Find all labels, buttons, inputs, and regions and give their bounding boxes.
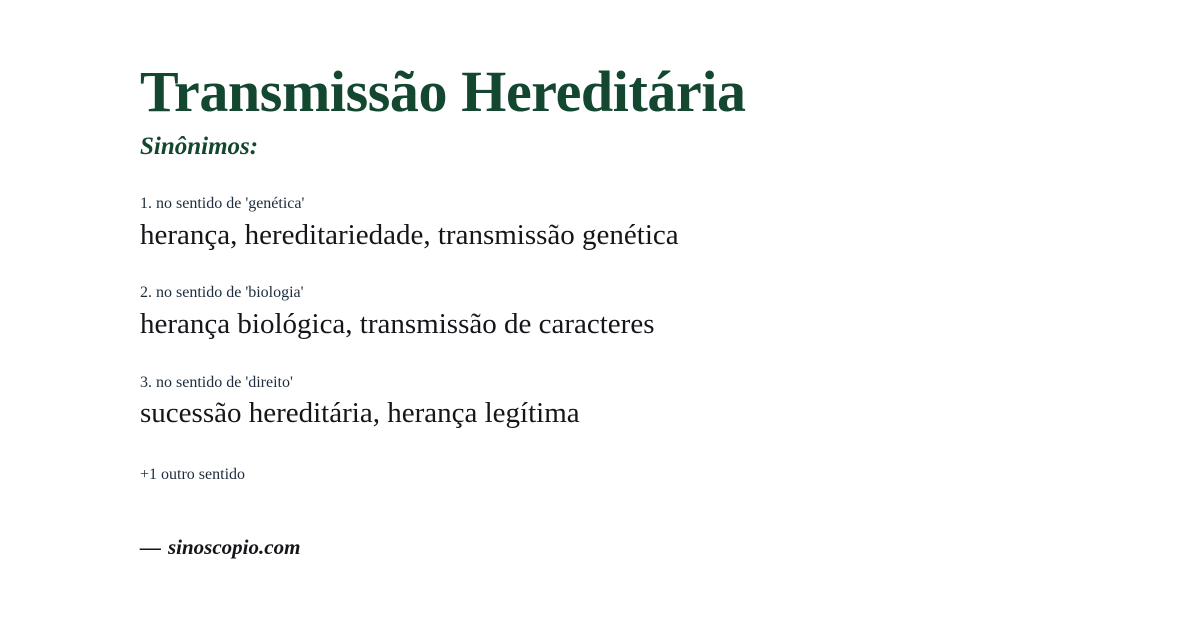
more-senses-note: +1 outro sentido	[140, 464, 245, 486]
sense-label: 1. no sentido de 'genética'	[140, 193, 1080, 215]
sense-list: 1. no sentido de 'genética' herança, her…	[140, 193, 1080, 433]
source-name: sinoscopio.com	[168, 535, 300, 559]
sense-synonyms: sucessão hereditária, herança legítima	[140, 395, 1080, 433]
sense-synonyms: herança biológica, transmissão de caract…	[140, 306, 1080, 344]
sense-synonyms: herança, hereditariedade, transmissão ge…	[140, 217, 1080, 255]
source-attribution: —sinoscopio.com	[140, 535, 300, 560]
sense-entry-1: 1. no sentido de 'genética' herança, her…	[140, 193, 1080, 254]
sense-label: 3. no sentido de 'direito'	[140, 372, 1080, 394]
sense-label: 2. no sentido de 'biologia'	[140, 282, 1080, 304]
sense-entry-2: 2. no sentido de 'biologia' herança biol…	[140, 282, 1080, 343]
em-dash-glyph: —	[140, 535, 161, 559]
section-subtitle-sinonimos: Sinônimos:	[140, 133, 258, 161]
synonym-card: Transmissão Hereditária Sinônimos: 1. no…	[0, 0, 1200, 628]
sense-entry-3: 3. no sentido de 'direito' sucessão here…	[140, 372, 1080, 433]
page-title: Transmissão Hereditária	[140, 62, 746, 122]
